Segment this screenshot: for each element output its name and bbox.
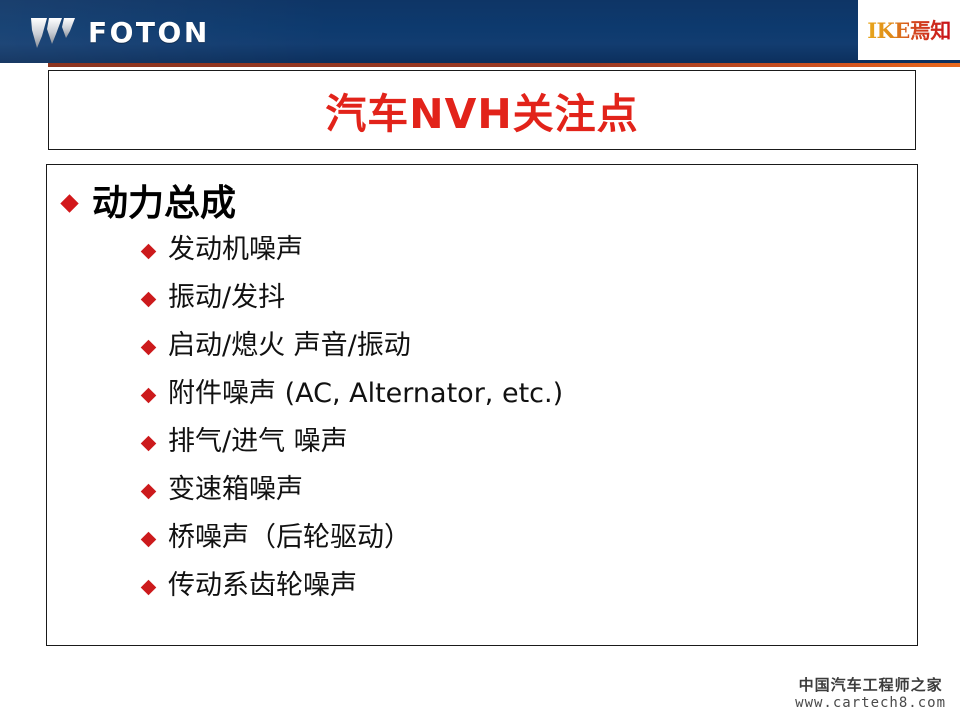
diamond-bullet-icon <box>60 194 78 212</box>
header-divider-rule <box>48 63 960 67</box>
list-item-label: 发动机噪声 <box>168 230 303 269</box>
watermark: 中国汽车工程师之家 www.cartech8.com <box>795 676 946 712</box>
foton-w-mark-icon <box>30 16 76 50</box>
list-item-label: 排气/进气 噪声 <box>168 422 348 461</box>
list-item: 排气/进气 噪声 <box>143 422 917 470</box>
list-item: 发动机噪声 <box>143 230 917 278</box>
bullet-level1-label: 动力总成 <box>92 183 236 224</box>
partner-logo: IKE焉知 <box>858 0 960 60</box>
list-item: 振动/发抖 <box>143 278 917 326</box>
watermark-name: 中国汽车工程师之家 <box>795 676 946 695</box>
partner-logo-text: IKE焉知 <box>867 15 951 45</box>
diamond-bullet-icon <box>141 340 157 356</box>
watermark-url: www.cartech8.com <box>795 695 946 713</box>
brand-name: FOTON <box>88 19 210 47</box>
list-item-label: 传动系齿轮噪声 <box>168 566 357 605</box>
foton-logo: FOTON <box>30 16 210 50</box>
header-bar: FOTON IKE焉知 <box>0 0 960 63</box>
list-item-label: 桥噪声（后轮驱动） <box>168 518 411 557</box>
list-item-label: 变速箱噪声 <box>168 470 303 509</box>
diamond-bullet-icon <box>141 292 157 308</box>
content-box: 动力总成 发动机噪声 振动/发抖 启动/熄火 声音/振动 附件噪声 (AC, A… <box>46 164 918 646</box>
slide: FOTON IKE焉知 汽车NVH关注点 动力总成 发动机噪声 振动/发抖 <box>0 0 960 720</box>
diamond-bullet-icon <box>141 388 157 404</box>
diamond-bullet-icon <box>141 484 157 500</box>
list-item-label: 附件噪声 (AC, Alternator, etc.) <box>168 374 563 413</box>
list-item: 桥噪声（后轮驱动） <box>143 518 917 566</box>
diamond-bullet-icon <box>141 532 157 548</box>
page-title: 汽车NVH关注点 <box>325 80 638 140</box>
diamond-bullet-icon <box>141 580 157 596</box>
diamond-bullet-icon <box>141 436 157 452</box>
title-box: 汽车NVH关注点 <box>48 70 916 150</box>
list-item: 启动/熄火 声音/振动 <box>143 326 917 374</box>
bullet-level1: 动力总成 <box>63 183 917 224</box>
list-item: 传动系齿轮噪声 <box>143 566 917 614</box>
sub-bullet-list: 发动机噪声 振动/发抖 启动/熄火 声音/振动 附件噪声 (AC, Altern… <box>47 230 917 614</box>
list-item-label: 启动/熄火 声音/振动 <box>168 326 411 365</box>
list-item: 变速箱噪声 <box>143 470 917 518</box>
list-item: 附件噪声 (AC, Alternator, etc.) <box>143 374 917 422</box>
diamond-bullet-icon <box>141 244 157 260</box>
list-item-label: 振动/发抖 <box>168 278 285 317</box>
